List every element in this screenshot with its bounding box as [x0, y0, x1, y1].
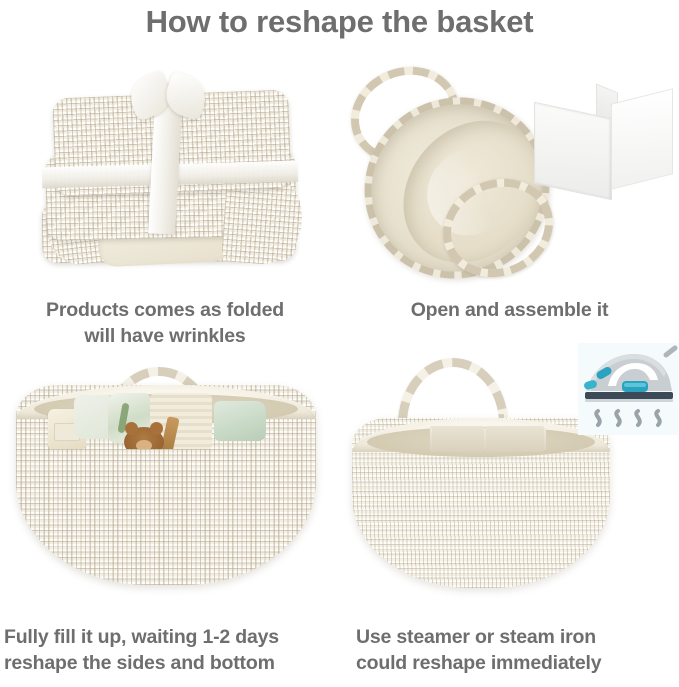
step-2-caption: Open and assemble it [340, 297, 679, 323]
divider-right-panel [611, 88, 673, 189]
divider-left-panel [534, 102, 612, 201]
infographic-page: How to reshape the basket Products comes… [0, 0, 679, 687]
bear-snout [136, 440, 152, 449]
steam-waves-icon [596, 411, 659, 425]
rope-basket-body [16, 385, 316, 585]
basket4-handle-arch [398, 358, 508, 424]
inner-divider-left [430, 426, 484, 452]
divider-edge-3 [544, 428, 546, 450]
divider-edge-2 [484, 428, 486, 450]
open-basket-illustration [340, 56, 679, 290]
empty-basket-illustration [340, 340, 679, 620]
inner-divider-right [486, 426, 544, 452]
divider-panel-illustration [534, 88, 674, 206]
step-4-image [340, 340, 679, 620]
step-1-image [8, 56, 338, 290]
step-3-caption: Fully fill it up, waiting 1-2 days resha… [4, 624, 352, 676]
step-3-image [8, 345, 338, 620]
page-title: How to reshape the basket [0, 2, 679, 42]
basket-contents [46, 393, 286, 449]
rope-basket-empty-body [352, 418, 610, 588]
teddy-bear-item [124, 427, 164, 449]
bear-ear-left [125, 422, 138, 435]
filled-basket-illustration [8, 345, 338, 620]
step-1-caption: Products comes as folded will have wrink… [0, 297, 330, 349]
folded-basket-illustration [8, 56, 338, 290]
bear-ear-right [150, 422, 163, 435]
divider-edge-1 [430, 428, 432, 450]
steam-iron-icon [578, 343, 678, 435]
green-muslin-item [214, 401, 266, 441]
step-2-image [340, 56, 679, 290]
steam-iron-svg [578, 343, 678, 435]
step-4-caption: Use steamer or steam iron could reshape … [356, 624, 679, 676]
